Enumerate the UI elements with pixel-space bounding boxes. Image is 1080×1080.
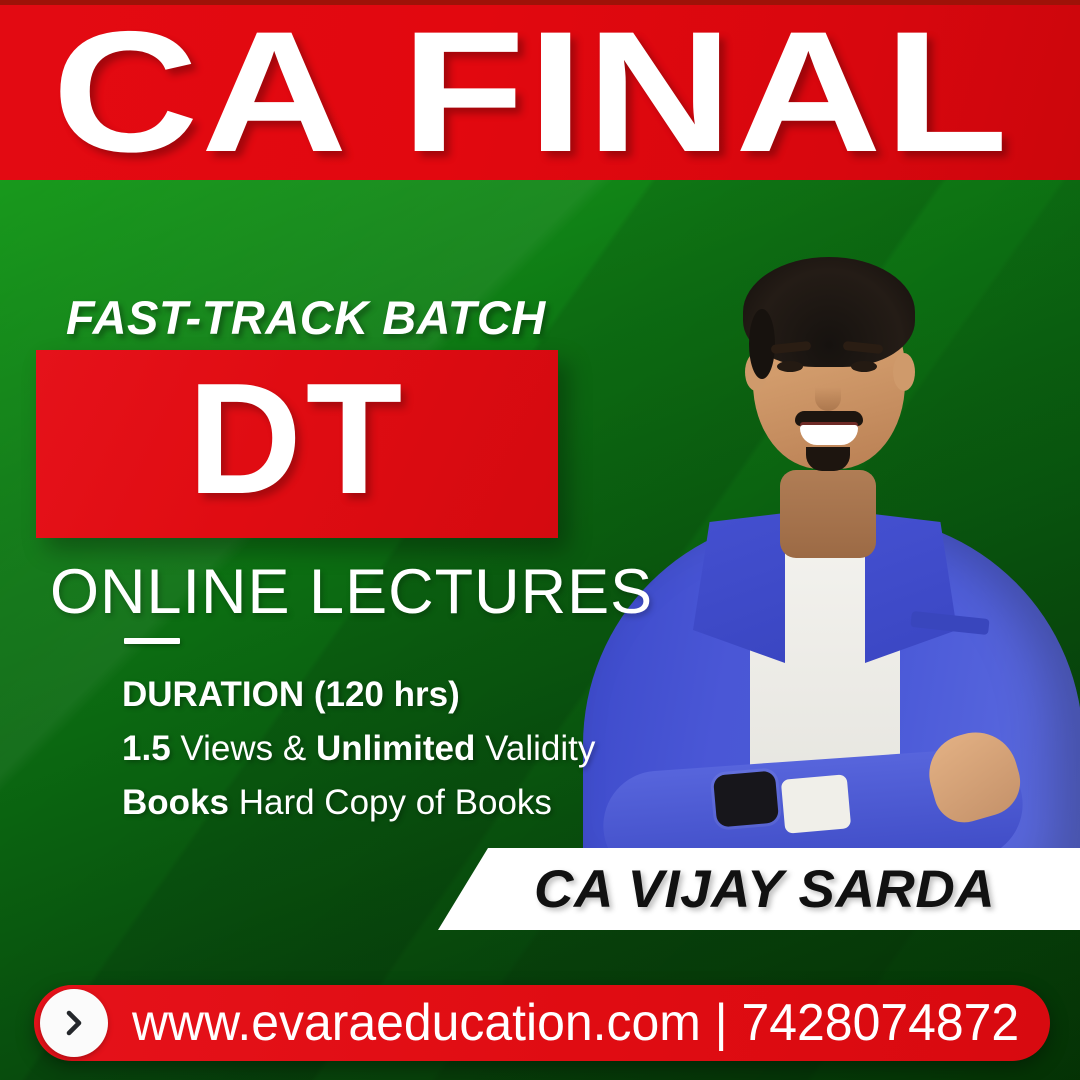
eye-right xyxy=(851,361,877,372)
detail-views-count: 1.5 xyxy=(122,729,171,768)
hair-shape xyxy=(743,257,915,367)
contact-bar[interactable]: www.evaraeducation.com | 7428074872 xyxy=(34,985,1050,1061)
shirt-cuff xyxy=(781,774,851,834)
divider-rule xyxy=(124,638,180,644)
neck-shape xyxy=(780,470,876,558)
faculty-name-banner: CA VIJAY SARDA xyxy=(438,848,1080,930)
detail-duration-label: DURATION xyxy=(122,675,304,714)
detail-views-label: Views & xyxy=(180,729,306,768)
detail-duration-value: (120 hrs) xyxy=(314,675,460,714)
detail-row-duration: DURATION (120 hrs) xyxy=(122,668,642,722)
wristwatch-shape xyxy=(713,770,779,827)
detail-row-views: 1.5 Views & Unlimited Validity xyxy=(122,722,642,776)
moustache-shape xyxy=(795,411,863,426)
smile-shape xyxy=(800,425,858,445)
subject-code: DT xyxy=(188,360,407,518)
contact-info[interactable]: www.evaraeducation.com | 7428074872 xyxy=(132,993,1019,1053)
subject-badge: DT xyxy=(36,350,558,538)
detail-books-label: Books xyxy=(122,783,229,822)
eye-left xyxy=(777,361,803,372)
page-title: CA FINAL xyxy=(52,1,1010,180)
detail-validity-label: Validity xyxy=(485,729,595,768)
mode-label: ONLINE LECTURES xyxy=(50,556,653,628)
nose-shape xyxy=(815,377,841,411)
detail-books-value: Hard Copy of Books xyxy=(239,783,552,822)
batch-type-label: FAST-TRACK BATCH xyxy=(66,290,546,345)
faculty-name: CA VIJAY SARDA xyxy=(534,859,995,920)
course-details-list: DURATION (120 hrs) 1.5 Views & Unlimited… xyxy=(122,668,642,830)
detail-validity-value: Unlimited xyxy=(316,729,475,768)
chevron-right-icon[interactable] xyxy=(40,989,108,1057)
goatee-shape xyxy=(806,447,850,471)
faculty-photo xyxy=(575,185,1080,865)
ear-right xyxy=(893,353,915,391)
promo-poster: CA FINAL FAST-TRACK BATCH DT ONLINE LECT… xyxy=(0,0,1080,1080)
detail-row-books: Books Hard Copy of Books xyxy=(122,776,642,830)
header-band: CA FINAL xyxy=(0,0,1080,180)
